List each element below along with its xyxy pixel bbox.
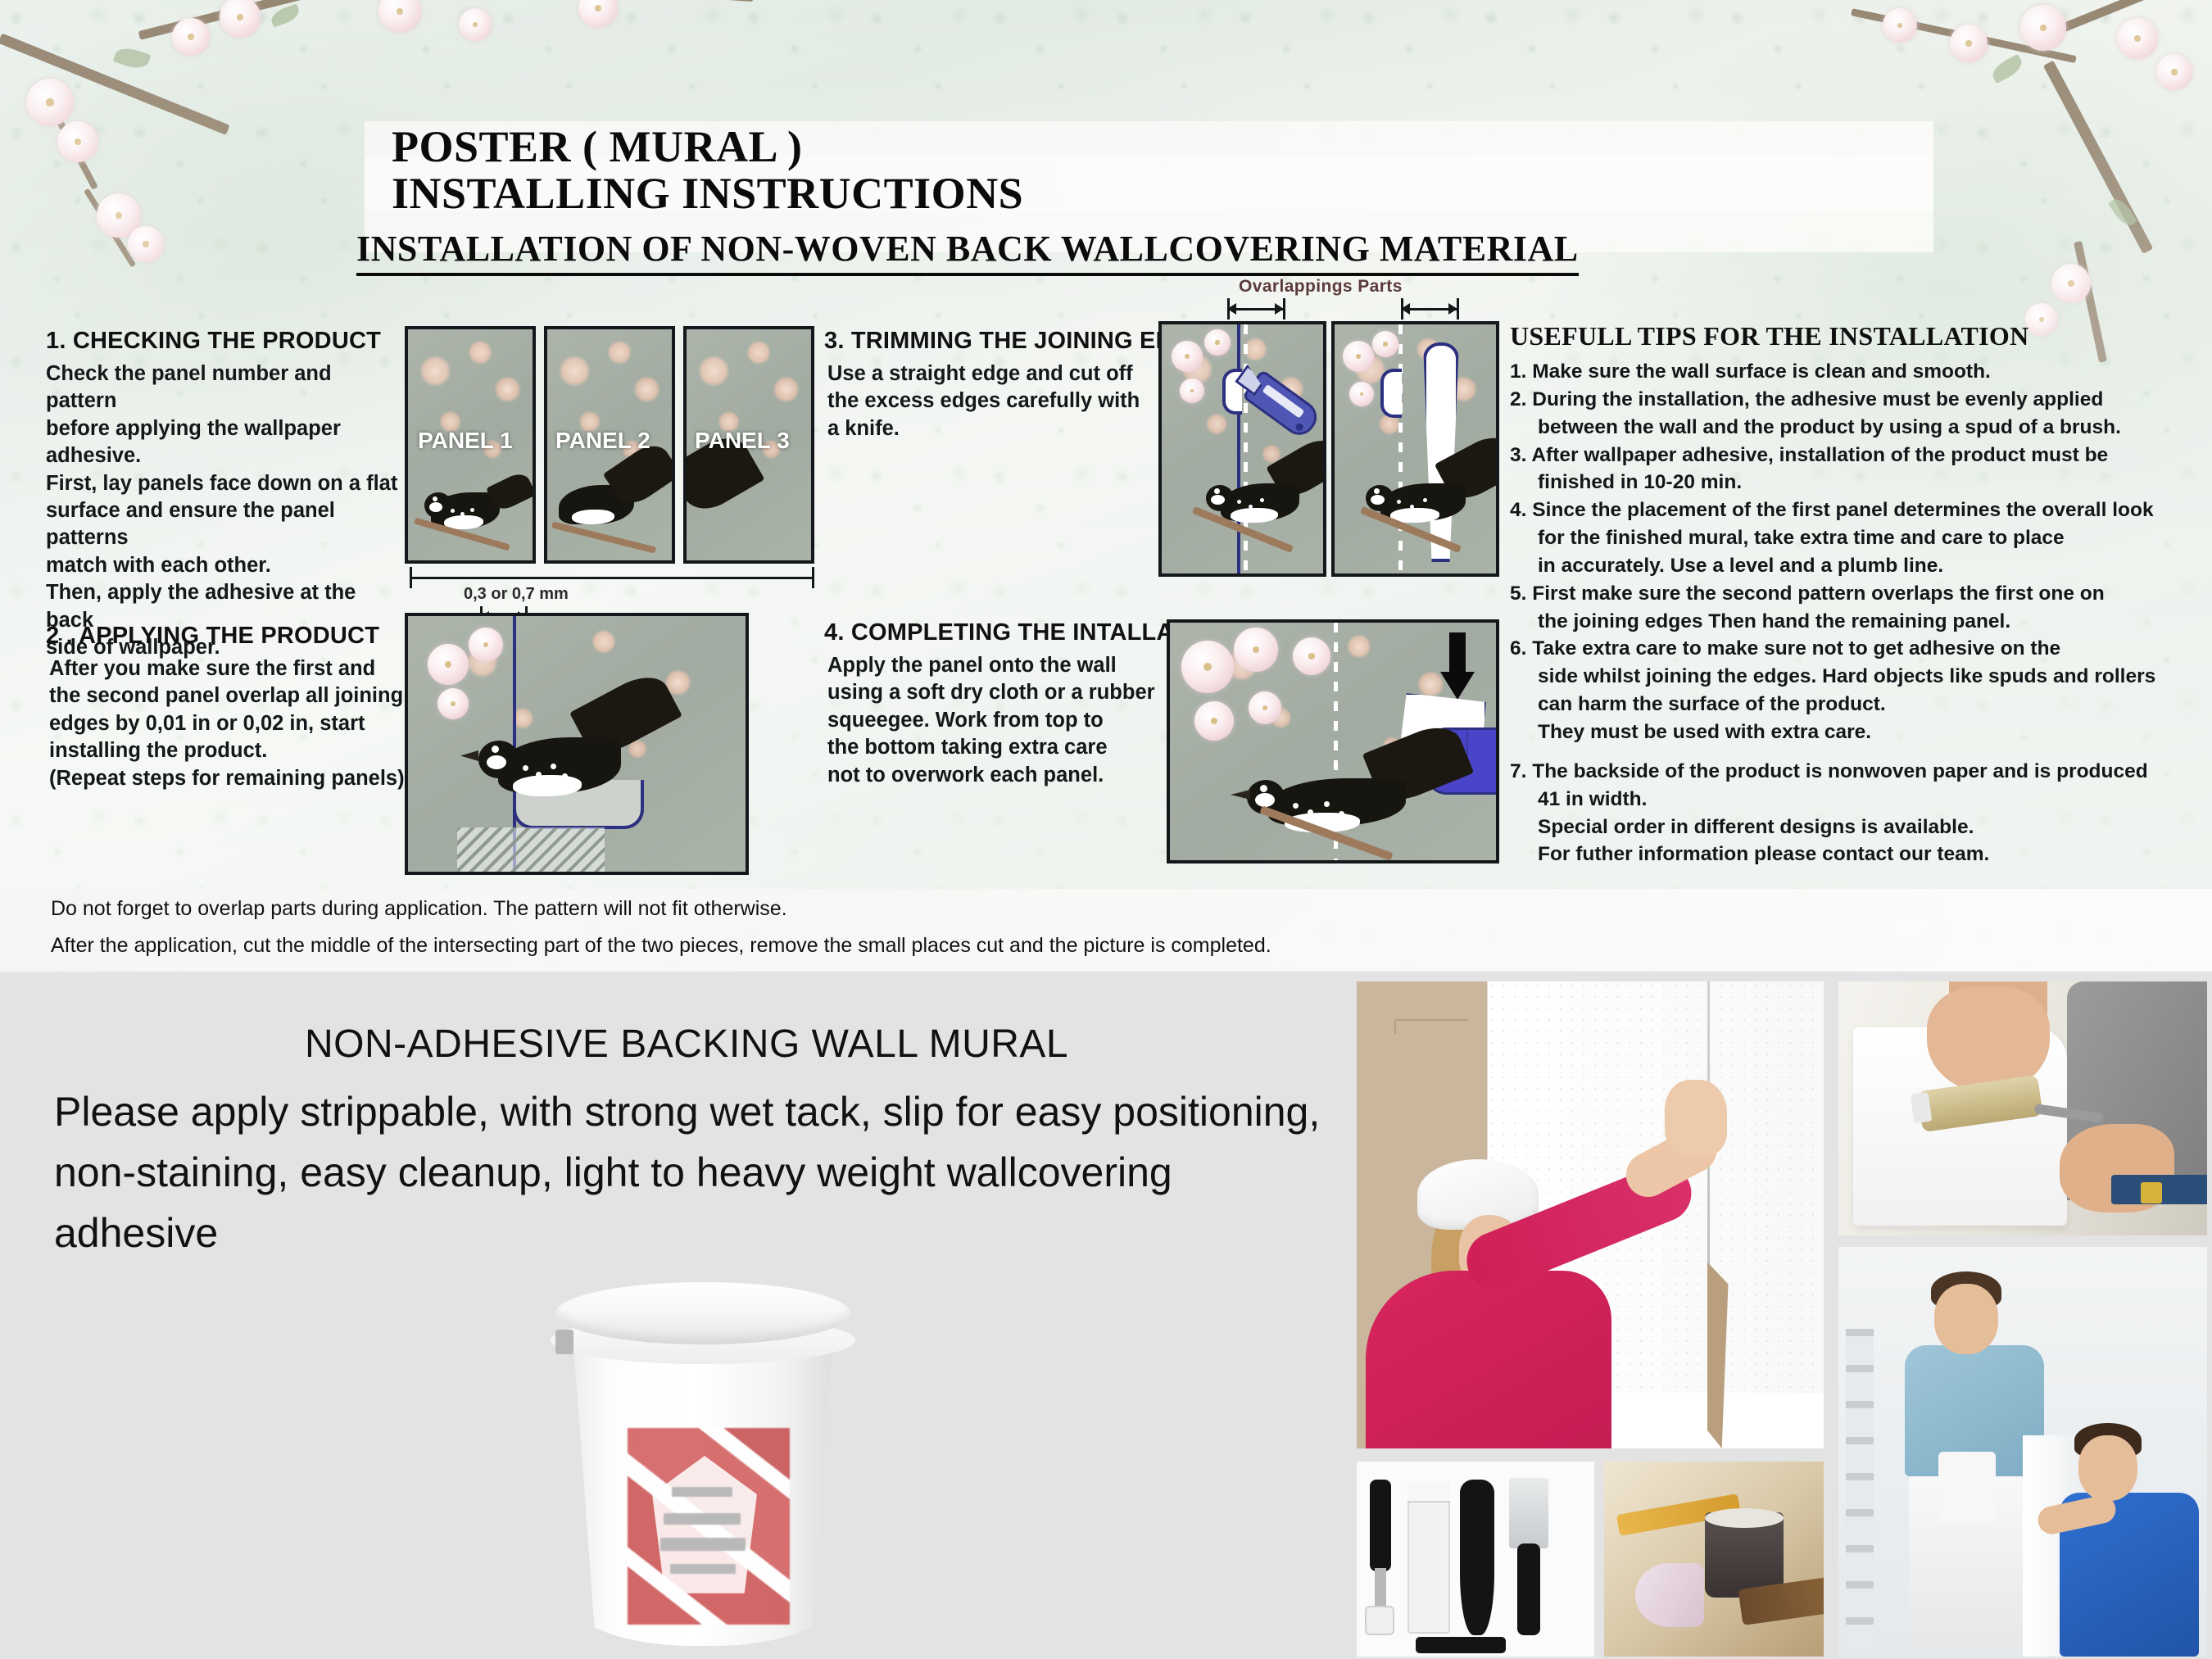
photo-tools-on-table xyxy=(1604,1462,1824,1657)
panel-label-2: PANEL 2 xyxy=(555,428,650,454)
poster-title-line-1: POSTER ( MURAL ) xyxy=(392,121,803,172)
seam-roller-stem xyxy=(1375,1568,1386,1609)
straight-edge-handle-2 xyxy=(1380,369,1402,418)
bucket-lid xyxy=(555,1282,850,1344)
overlap-tick-d xyxy=(1457,298,1459,320)
bucket-label-text-line xyxy=(670,1564,736,1574)
step-2-illustration xyxy=(405,613,749,875)
tip-continuation: side whilst joining the edges. Hard obje… xyxy=(1510,664,2198,690)
installation-instructions-poster: POSTER ( MURAL ) INSTALLING INSTRUCTIONS… xyxy=(0,0,2212,972)
utility-knife-tool xyxy=(1416,1637,1506,1653)
tip-text: Since the placement of the first panel d… xyxy=(1532,499,2153,521)
tip-number: 7. xyxy=(1510,760,1526,782)
tip-continuation: in accurately. Use a level and a plumb l… xyxy=(1510,553,2198,579)
bucket-label-text-line xyxy=(660,1538,746,1551)
photo-woman-applying-lining xyxy=(1357,981,1824,1448)
plastic-smoother xyxy=(1460,1480,1494,1635)
tip-continuation: For futher information please contact ou… xyxy=(1510,841,2198,868)
tip-continuation: between the wall and the product by usin… xyxy=(1510,415,2198,441)
photo-two-people-hanging-wallpaper xyxy=(1838,1247,2207,1657)
step-3-illustration-cutting xyxy=(1158,321,1326,577)
overlap-tick-b xyxy=(1283,298,1285,320)
adhesive-bucket-image xyxy=(547,1282,859,1655)
tip-item: 6. Take extra care to make sure not to g… xyxy=(1510,636,2198,662)
tip-item: 4. Since the placement of the first pane… xyxy=(1510,497,2198,524)
scraper-blade xyxy=(1509,1478,1548,1548)
tip-text: After wallpaper adhesive, installation o… xyxy=(1531,444,2108,466)
step-2-body: After you make sure the first and the se… xyxy=(49,655,410,792)
step-2-heading: 2 . APPLYING THE PRODUCT xyxy=(46,623,379,650)
tip-continuation: Special order in different designs is av… xyxy=(1510,814,2198,841)
step-4-body: Apply the panel onto the wall using a so… xyxy=(827,652,1155,789)
dimension-tick-right xyxy=(812,567,814,588)
poster-title-line-2: INSTALLING INSTRUCTIONS xyxy=(392,168,1023,219)
seam-roller-wheel xyxy=(1365,1606,1394,1635)
photo-wallpaper-tool-set xyxy=(1357,1462,1594,1657)
smoothing-brush-ferrule xyxy=(1407,1481,1450,1503)
dimension-rule xyxy=(410,577,814,579)
panel-label-3: PANEL 3 xyxy=(695,428,790,454)
product-description: Please apply strippable, with strong wet… xyxy=(54,1081,1332,1263)
hatched-region xyxy=(457,827,605,875)
down-arrow-icon xyxy=(1440,632,1475,700)
tip-number: 5. xyxy=(1510,582,1526,605)
tip-continuation: the joining edges Then hand the remainin… xyxy=(1510,609,2198,635)
photo-applying-paste-with-roller xyxy=(1838,981,2207,1235)
tip-number: 4. xyxy=(1510,499,1526,521)
tip-number: 1. xyxy=(1510,360,1526,383)
tip-item: 3. After wallpaper adhesive, installatio… xyxy=(1510,442,2198,469)
tip-number: 3. xyxy=(1510,444,1526,466)
product-heading: NON-ADHESIVE BACKING WALL MURAL xyxy=(305,1022,1068,1067)
tip-number: 6. xyxy=(1510,637,1526,660)
tip-continuation: 41 in width. xyxy=(1510,786,2198,813)
tip-text: Make sure the wall surface is clean and … xyxy=(1532,360,1991,383)
tip-text: During the installation, the adhesive mu… xyxy=(1532,388,2103,410)
step-3-illustration-straightedge xyxy=(1331,321,1499,577)
step-1-body: Check the panel number and pattern befor… xyxy=(46,360,406,661)
bucket-clip xyxy=(555,1330,573,1354)
tip-text: Take extra care to make sure not to get … xyxy=(1532,637,2060,660)
tip-continuation: for the finished mural, take extra time … xyxy=(1510,525,2198,551)
tip-continuation: finished in 10-20 min. xyxy=(1510,469,2198,496)
overlap-dimension-label: 0,3 or 0,7 mm xyxy=(464,585,569,604)
seam-roller-handle xyxy=(1370,1480,1391,1571)
poster-note-2: After the application, cut the middle of… xyxy=(51,934,1271,958)
tip-item: 2. During the installation, the adhesive… xyxy=(1510,387,2198,413)
tip-continuation: They must be used with extra care. xyxy=(1510,719,2198,746)
useful-tips-list: 1. Make sure the wall surface is clean a… xyxy=(1510,359,2198,869)
step-3-body: Use a straight edge and cut off the exce… xyxy=(827,360,1155,442)
panel-label-1: PANEL 1 xyxy=(418,428,513,454)
tip-number: 2. xyxy=(1510,388,1526,410)
tip-item: 5. First make sure the second pattern ov… xyxy=(1510,581,2198,607)
poster-subtitle: INSTALLATION OF NON-WOVEN BACK WALLCOVER… xyxy=(356,228,1579,276)
tip-continuation: can harm the surface of the product. xyxy=(1510,691,2198,718)
tip-text: First make sure the second pattern overl… xyxy=(1532,582,2104,605)
useful-tips-heading: USEFULL TIPS FOR THE INSTALLATION xyxy=(1510,321,2029,351)
tip-item: 1. Make sure the wall surface is clean a… xyxy=(1510,359,2198,385)
overlap-arrowhead-a-left xyxy=(1227,303,1236,315)
poster-note-1: Do not forget to overlap parts during ap… xyxy=(51,897,787,921)
step-1-heading: 1. CHECKING THE PRODUCT xyxy=(46,328,381,355)
tip-item: 7. The backside of the product is nonwov… xyxy=(1510,759,2198,785)
step-4-illustration xyxy=(1167,619,1499,863)
tip-text: The backside of the product is nonwoven … xyxy=(1532,760,2147,782)
tips-spacer xyxy=(1510,747,2198,759)
overlap-arrowhead-b-left xyxy=(1401,303,1410,315)
overlappings-parts-label: Ovarlappings Parts xyxy=(1239,277,1403,297)
scraper-handle xyxy=(1517,1543,1540,1635)
bucket-label-text-line xyxy=(672,1487,732,1497)
smoothing-brush xyxy=(1407,1481,1450,1634)
bucket-label-text-line xyxy=(664,1513,741,1525)
